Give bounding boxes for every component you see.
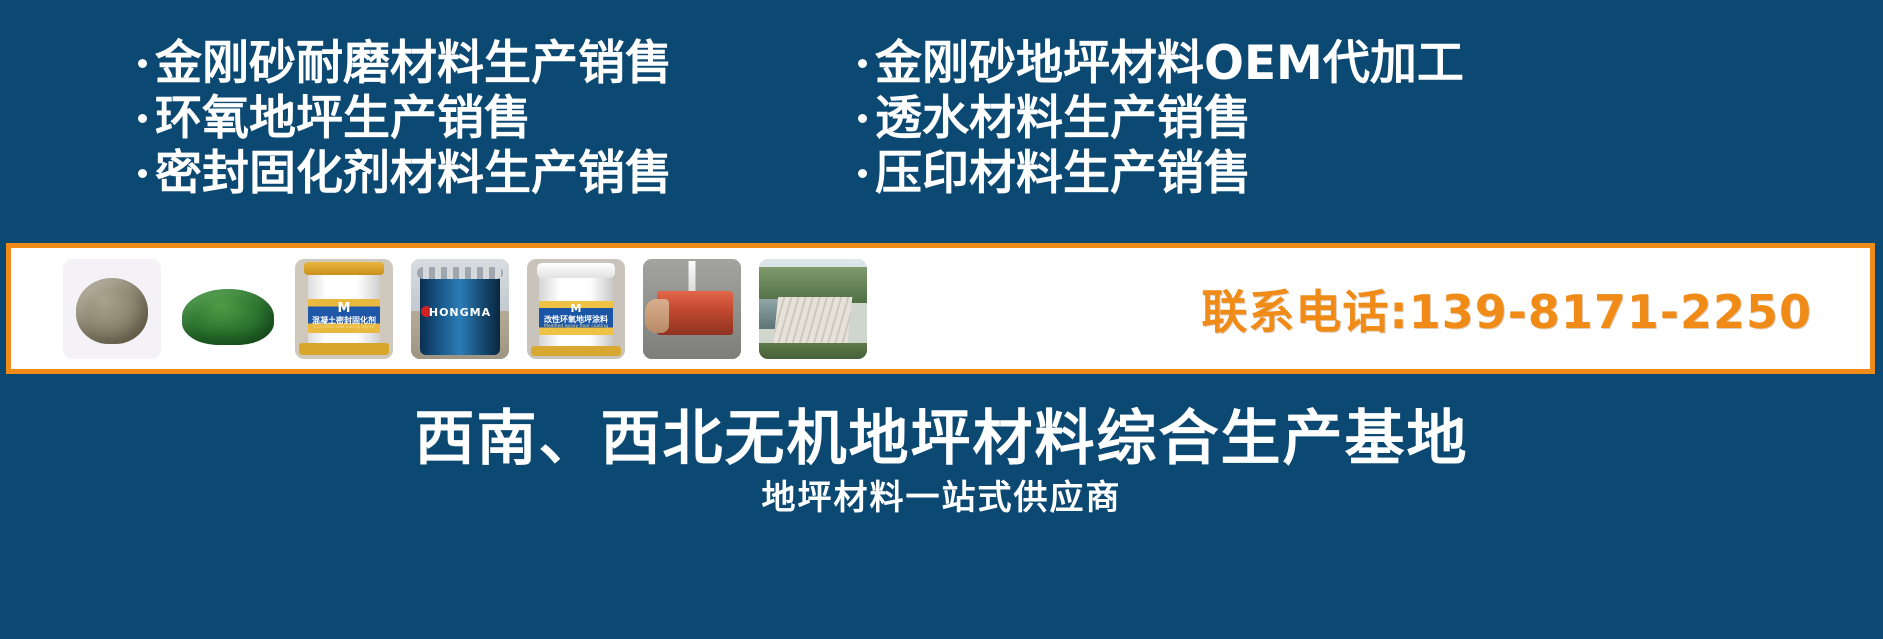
feature-lists: 金刚砂耐磨材料生产销售 环氧地坪生产销售 密封固化剂材料生产销售 金刚砂地坪材料… — [0, 36, 1883, 236]
hand-shape — [645, 299, 669, 333]
product-thumb-grey-emery-powder — [63, 259, 161, 359]
drum-brand-label: HONGMA — [429, 306, 491, 319]
feature-item: 环氧地坪生产销售 — [138, 91, 858, 146]
feature-label: 金刚砂耐磨材料生产销售 — [155, 36, 672, 91]
product-thumb-concrete-sealer-pail: M 混凝土密封固化剂 Concrete seal curing agent — [295, 259, 393, 359]
pail-label-cn: 混凝土密封固化剂 — [312, 316, 376, 325]
bullet-dot-icon — [858, 59, 867, 68]
pail-label-cn: 改性环氧地坪涂料 — [544, 315, 608, 324]
feature-label: 金刚砂地坪材料OEM代加工 — [875, 36, 1464, 91]
brand-m-logo: M — [571, 303, 582, 315]
brand-m-logo: M — [338, 302, 351, 315]
feature-column-right: 金刚砂地坪材料OEM代加工 透水材料生产销售 压印材料生产销售 — [858, 36, 1758, 236]
powder-heap-shape — [182, 289, 274, 345]
product-thumb-green-emery-powder — [179, 259, 277, 359]
bullet-dot-icon — [858, 169, 867, 178]
feature-label: 环氧地坪生产销售 — [155, 91, 531, 146]
contact-phone[interactable]: 联系电话:139-8171-2250 — [1201, 276, 1812, 342]
feature-label: 透水材料生产销售 — [875, 91, 1251, 146]
promotional-banner: 金刚砂耐磨材料生产销售 环氧地坪生产销售 密封固化剂材料生产销售 金刚砂地坪材料… — [0, 0, 1883, 639]
product-strip: M 混凝土密封固化剂 Concrete seal curing agent HO… — [6, 243, 1875, 374]
feature-label: 压印材料生产销售 — [875, 146, 1251, 201]
product-thumb-hongma-blue-drum: HONGMA — [411, 259, 509, 359]
pail-label-en: Modified epoxy floor coating — [544, 324, 608, 330]
bullet-dot-icon — [138, 59, 147, 68]
background-grass — [759, 343, 867, 359]
feature-column-left: 金刚砂耐磨材料生产销售 环氧地坪生产销售 密封固化剂材料生产销售 — [138, 36, 858, 236]
product-thumb-permeable-concrete-block — [643, 259, 741, 359]
pail-base — [299, 343, 389, 355]
pail-label-en: Concrete seal curing agent — [314, 325, 375, 331]
pail-lid — [537, 263, 615, 278]
feature-item: 透水材料生产销售 — [858, 91, 1758, 146]
feature-item: 金刚砂地坪材料OEM代加工 — [858, 36, 1758, 91]
feature-item: 压印材料生产销售 — [858, 146, 1758, 201]
footer-tagline: 地坪材料一站式供应商 — [0, 470, 1883, 519]
product-thumb-epoxy-coating-pail: M 改性环氧地坪涂料 Modified epoxy floor coating — [527, 259, 625, 359]
product-thumbnail-list: M 混凝土密封固化剂 Concrete seal curing agent HO… — [11, 248, 867, 369]
feature-label: 密封固化剂材料生产销售 — [155, 146, 672, 201]
product-thumb-paved-walkway — [759, 259, 867, 359]
pail-base — [531, 346, 621, 356]
bullet-dot-icon — [138, 114, 147, 123]
bullet-dot-icon — [858, 114, 867, 123]
drum-rim — [417, 267, 503, 279]
bullet-dot-icon — [138, 169, 147, 178]
feature-item: 金刚砂耐磨材料生产销售 — [138, 36, 858, 91]
pail-lid — [304, 262, 384, 275]
feature-item: 密封固化剂材料生产销售 — [138, 146, 858, 201]
powder-heap-shape — [76, 278, 148, 344]
footer-headline: 西南、西北无机地坪材料综合生产基地 — [0, 390, 1883, 477]
